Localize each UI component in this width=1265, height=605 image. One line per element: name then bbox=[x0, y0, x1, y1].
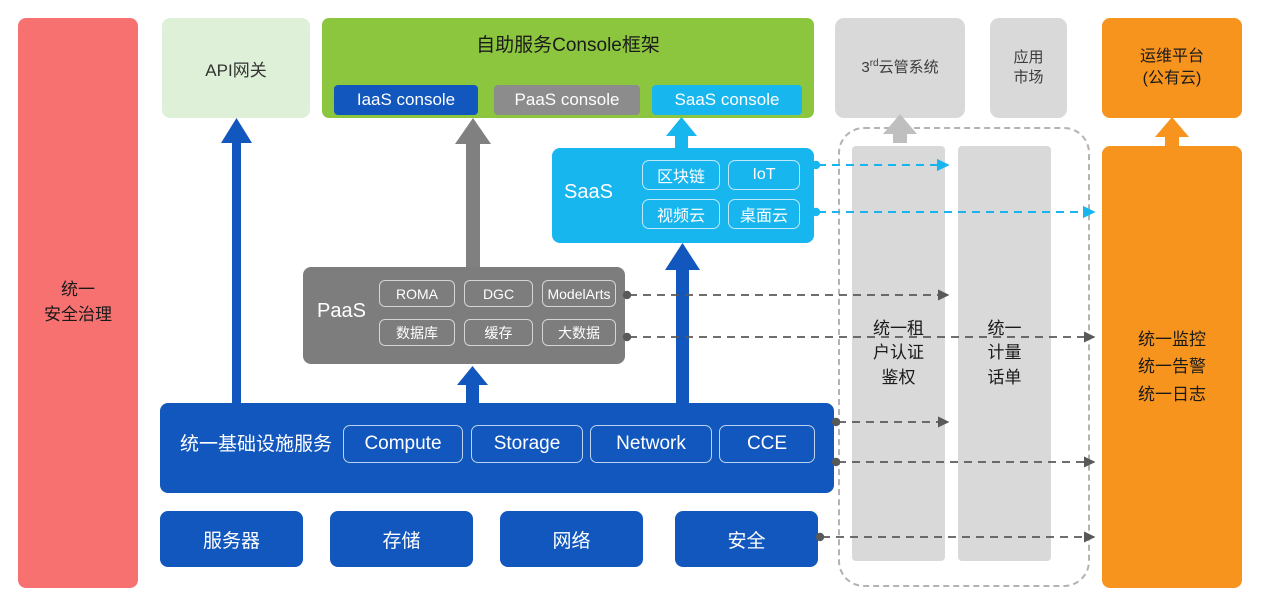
paas-service-roma: ROMA bbox=[379, 280, 455, 307]
saas-chip-label-1: IoT bbox=[752, 166, 775, 184]
arrow-paas-to-console bbox=[455, 118, 491, 267]
paas-service-modelarts: ModelArts bbox=[542, 280, 616, 307]
arrow-ops-body-to-header bbox=[1155, 117, 1189, 146]
architecture-diagram-canvas: 统一 安全治理 API网关 自助服务Console框架 IaaS console… bbox=[0, 0, 1265, 605]
hardware-network-box: 网络 bbox=[500, 511, 643, 567]
ops-platform-header-box: 运维平台 (公有云) bbox=[1102, 18, 1242, 118]
unified-metering-billing-column: 统一 计量 话单 bbox=[958, 146, 1051, 561]
hardware-label-1: 存储 bbox=[382, 526, 420, 553]
console-framework-box: 自助服务Console框架 IaaS console PaaS console … bbox=[322, 18, 814, 118]
paas-layer-box: PaaS ROMA DGC ModelArts 数据库 缓存 大数据 bbox=[303, 267, 625, 364]
saas-service-desktop-cloud: 桌面云 bbox=[728, 199, 800, 229]
ops-platform-body-box: 统一监控 统一告警 统一日志 bbox=[1102, 146, 1242, 588]
unified-tenant-auth-column: 统一租 户认证 鉴权 bbox=[852, 146, 945, 561]
iaas-console-label: IaaS console bbox=[357, 90, 455, 110]
paas-service-database: 数据库 bbox=[379, 319, 455, 346]
hardware-security-box: 安全 bbox=[675, 511, 818, 567]
paas-service-bigdata: 大数据 bbox=[542, 319, 616, 346]
infra-service-network: Network bbox=[590, 425, 712, 463]
security-pillar-line2: 安全治理 bbox=[44, 303, 112, 328]
arrow-infra-to-saas bbox=[665, 243, 700, 404]
infra-chip-label-1: Storage bbox=[494, 433, 561, 455]
infra-service-cce: CCE bbox=[719, 425, 815, 463]
saas-console-label: SaaS console bbox=[675, 90, 780, 110]
saas-console-chip: SaaS console bbox=[652, 85, 802, 115]
console-framework-title: 自助服务Console框架 bbox=[322, 30, 814, 57]
paas-service-dgc: DGC bbox=[464, 280, 533, 307]
infrastructure-layer-box: 统一基础设施服务 Compute Storage Network CCE bbox=[160, 403, 834, 493]
hardware-label-3: 安全 bbox=[727, 526, 765, 553]
infrastructure-label: 统一基础设施服务 bbox=[180, 429, 332, 456]
app-market-line1: 应用 bbox=[1013, 48, 1043, 68]
hardware-server-box: 服务器 bbox=[160, 511, 303, 567]
saas-layer-box: SaaS 区块链 IoT 视频云 桌面云 bbox=[552, 148, 814, 243]
iaas-console-chip: IaaS console bbox=[334, 85, 478, 115]
infra-chip-label-3: CCE bbox=[747, 433, 787, 455]
app-market-line2: 市场 bbox=[1013, 68, 1043, 88]
security-pillar-line1: 统一 bbox=[44, 278, 112, 303]
saas-service-blockchain: 区块链 bbox=[642, 160, 720, 190]
paas-chip-label-5: 大数据 bbox=[558, 323, 600, 343]
hardware-label-0: 服务器 bbox=[203, 526, 260, 553]
app-market-box: 应用 市场 bbox=[990, 18, 1067, 118]
ops-alarm-label: 统一告警 bbox=[1138, 353, 1206, 380]
ops-platform-subtitle: (公有云) bbox=[1140, 68, 1204, 90]
third-party-sup: rd bbox=[870, 58, 879, 69]
paas-chip-label-2: ModelArts bbox=[547, 286, 610, 302]
arrow-infra-to-paas bbox=[457, 366, 488, 404]
saas-chip-label-0: 区块链 bbox=[657, 163, 705, 187]
ops-monitoring-label: 统一监控 bbox=[1138, 326, 1206, 353]
auth-line1: 统一租 bbox=[873, 317, 924, 342]
metering-line2: 计量 bbox=[988, 341, 1022, 366]
auth-line2: 户认证 bbox=[873, 341, 924, 366]
saas-service-video-cloud: 视频云 bbox=[642, 199, 720, 229]
paas-chip-label-1: DGC bbox=[483, 286, 514, 302]
hardware-storage-box: 存储 bbox=[330, 511, 473, 567]
saas-chip-label-3: 桌面云 bbox=[740, 202, 788, 226]
ops-log-label: 统一日志 bbox=[1138, 381, 1206, 408]
arrow-saas-to-console bbox=[666, 117, 697, 149]
hardware-label-2: 网络 bbox=[552, 526, 590, 553]
auth-line3: 鉴权 bbox=[873, 366, 924, 391]
paas-service-cache: 缓存 bbox=[464, 319, 533, 346]
api-gateway-box: API网关 bbox=[162, 18, 310, 118]
saas-layer-label: SaaS bbox=[564, 181, 613, 204]
saas-service-iot: IoT bbox=[728, 160, 800, 190]
infra-service-storage: Storage bbox=[471, 425, 583, 463]
security-governance-pillar: 统一 安全治理 bbox=[18, 18, 138, 588]
paas-console-chip: PaaS console bbox=[494, 85, 640, 115]
infra-chip-label-0: Compute bbox=[364, 433, 441, 455]
third-party-label: 云管系统 bbox=[879, 59, 939, 76]
paas-chip-label-0: ROMA bbox=[396, 286, 438, 302]
paas-chip-label-3: 数据库 bbox=[396, 323, 438, 343]
metering-line3: 话单 bbox=[988, 366, 1022, 391]
saas-chip-label-2: 视频云 bbox=[657, 202, 705, 226]
api-gateway-label: API网关 bbox=[205, 56, 266, 81]
metering-line1: 统一 bbox=[988, 317, 1022, 342]
infra-chip-label-2: Network bbox=[616, 433, 686, 455]
infra-service-compute: Compute bbox=[343, 425, 463, 463]
third-party-prefix: 3 bbox=[861, 59, 869, 76]
paas-chip-label-4: 缓存 bbox=[485, 323, 513, 343]
paas-console-label: PaaS console bbox=[515, 90, 620, 110]
arrow-infra-to-api-gateway bbox=[221, 118, 252, 404]
ops-platform-title: 运维平台 bbox=[1140, 46, 1204, 68]
paas-layer-label: PaaS bbox=[317, 300, 366, 323]
third-party-cloud-mgmt-box: 3rd云管系统 bbox=[835, 18, 965, 118]
